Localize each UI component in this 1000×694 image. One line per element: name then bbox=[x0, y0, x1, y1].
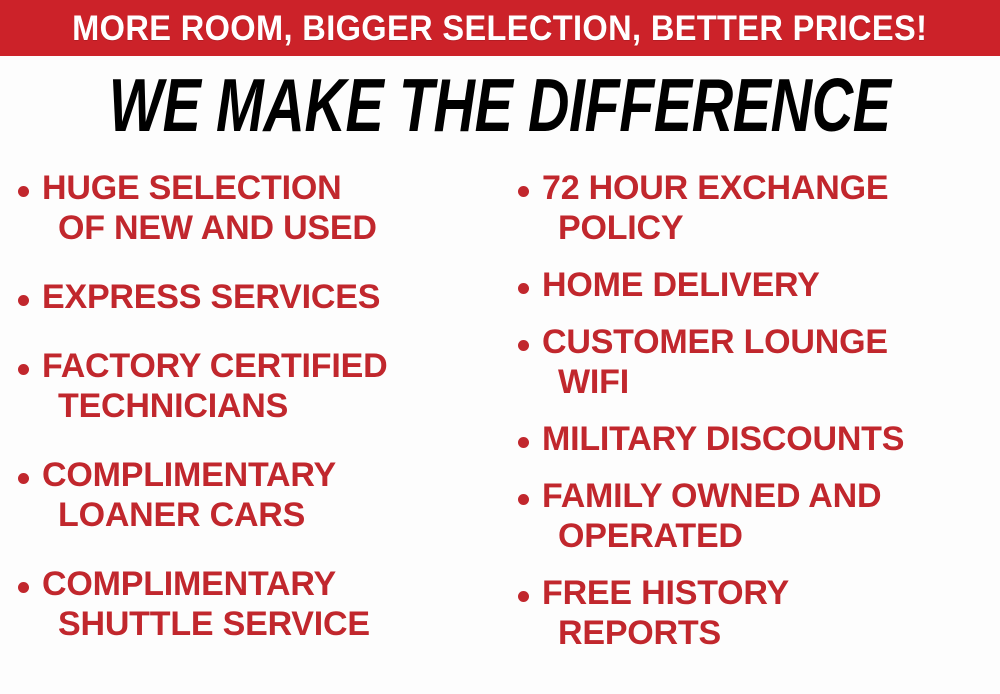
list-item: HUGE SELECTIONOF NEW AND USED bbox=[18, 168, 500, 248]
list-item-line: POLICY bbox=[542, 208, 1000, 248]
list-item-line: CUSTOMER LOUNGE bbox=[542, 322, 1000, 362]
list-item-text: HUGE SELECTIONOF NEW AND USED bbox=[42, 168, 500, 248]
list-item-text: CUSTOMER LOUNGEWIFI bbox=[542, 322, 1000, 402]
list-item: COMPLIMENTARYSHUTTLE SERVICE bbox=[18, 564, 500, 644]
list-item-text: FACTORY CERTIFIEDTECHNICIANS bbox=[42, 346, 500, 426]
list-item-line: FREE HISTORY bbox=[542, 573, 1000, 613]
list-item-line: OF NEW AND USED bbox=[42, 208, 500, 248]
list-item-text: EXPRESS SERVICES bbox=[42, 277, 500, 317]
list-item-line: TECHNICIANS bbox=[42, 386, 500, 426]
list-item: MILITARY DISCOUNTS bbox=[518, 419, 1000, 459]
list-item-line: FACTORY CERTIFIED bbox=[42, 346, 500, 386]
list-item-line: WIFI bbox=[542, 362, 1000, 402]
list-item-line: EXPRESS SERVICES bbox=[42, 277, 500, 317]
list-item-line: 72 HOUR EXCHANGE bbox=[542, 168, 1000, 208]
list-item-line: MILITARY DISCOUNTS bbox=[542, 419, 1000, 459]
bullet-dot-icon bbox=[18, 473, 29, 484]
bullet-dot-icon bbox=[18, 582, 29, 593]
bullet-dot-icon bbox=[518, 340, 529, 351]
list-item-text: FREE HISTORYREPORTS bbox=[542, 573, 1000, 653]
list-item-text: COMPLIMENTARYSHUTTLE SERVICE bbox=[42, 564, 500, 644]
benefits-column-right: 72 HOUR EXCHANGEPOLICYHOME DELIVERYCUSTO… bbox=[500, 158, 1000, 694]
bullet-dot-icon bbox=[518, 591, 529, 602]
list-item-text: MILITARY DISCOUNTS bbox=[542, 419, 1000, 459]
bullet-dot-icon bbox=[18, 186, 29, 197]
list-item: HOME DELIVERY bbox=[518, 265, 1000, 305]
list-item-line: COMPLIMENTARY bbox=[42, 564, 500, 604]
benefits-columns: HUGE SELECTIONOF NEW AND USEDEXPRESS SER… bbox=[0, 158, 1000, 694]
list-item-text: FAMILY OWNED ANDOPERATED bbox=[542, 476, 1000, 556]
list-item-line: SHUTTLE SERVICE bbox=[42, 604, 500, 644]
list-item-text: HOME DELIVERY bbox=[542, 265, 1000, 305]
list-item-line: HOME DELIVERY bbox=[542, 265, 1000, 305]
bullet-dot-icon bbox=[518, 437, 529, 448]
list-item-text: 72 HOUR EXCHANGEPOLICY bbox=[542, 168, 1000, 248]
list-item: EXPRESS SERVICES bbox=[18, 277, 500, 317]
list-item: 72 HOUR EXCHANGEPOLICY bbox=[518, 168, 1000, 248]
list-item-line: HUGE SELECTION bbox=[42, 168, 500, 208]
benefits-column-left: HUGE SELECTIONOF NEW AND USEDEXPRESS SER… bbox=[0, 158, 500, 694]
bullet-dot-icon bbox=[518, 186, 529, 197]
list-item: FAMILY OWNED ANDOPERATED bbox=[518, 476, 1000, 556]
banner-headline-text: MORE ROOM, BIGGER SELECTION, BETTER PRIC… bbox=[72, 11, 927, 46]
promo-poster: MORE ROOM, BIGGER SELECTION, BETTER PRIC… bbox=[0, 0, 1000, 694]
bullet-dot-icon bbox=[18, 295, 29, 306]
list-item-line: REPORTS bbox=[542, 613, 1000, 653]
list-item: COMPLIMENTARYLOANER CARS bbox=[18, 455, 500, 535]
top-banner: MORE ROOM, BIGGER SELECTION, BETTER PRIC… bbox=[0, 0, 1000, 56]
bullet-dot-icon bbox=[18, 364, 29, 375]
list-item-line: LOANER CARS bbox=[42, 495, 500, 535]
list-item-line: COMPLIMENTARY bbox=[42, 455, 500, 495]
headline-container: WE MAKE THE DIFFERENCE bbox=[0, 66, 1000, 144]
bullet-dot-icon bbox=[518, 283, 529, 294]
list-item-line: FAMILY OWNED AND bbox=[542, 476, 1000, 516]
list-item: CUSTOMER LOUNGEWIFI bbox=[518, 322, 1000, 402]
list-item: FACTORY CERTIFIEDTECHNICIANS bbox=[18, 346, 500, 426]
bullet-dot-icon bbox=[518, 494, 529, 505]
list-item-line: OPERATED bbox=[542, 516, 1000, 556]
page-title: WE MAKE THE DIFFERENCE bbox=[109, 67, 891, 143]
list-item: FREE HISTORYREPORTS bbox=[518, 573, 1000, 653]
list-item-text: COMPLIMENTARYLOANER CARS bbox=[42, 455, 500, 535]
